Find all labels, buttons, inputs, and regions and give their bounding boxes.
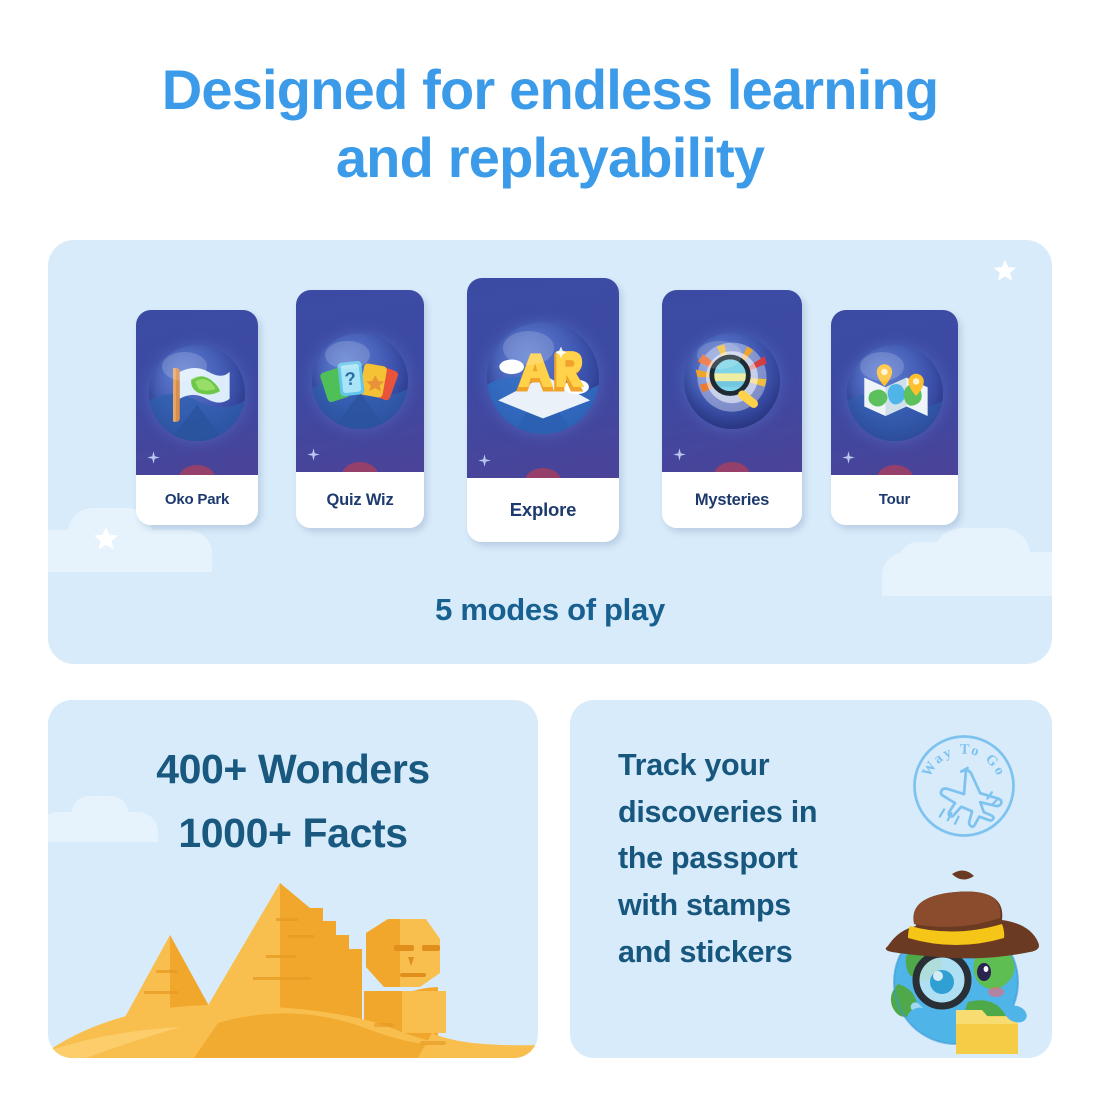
page-title-line-1: Designed for endless learning <box>162 58 939 121</box>
mode-card-label: Tour <box>831 475 958 525</box>
mode-card-mysteries[interactable]: Mysteries <box>662 290 802 528</box>
mode-card-tour[interactable]: Tour <box>831 310 958 525</box>
star-icon <box>841 450 856 465</box>
mode-card-art <box>662 290 802 472</box>
decorative-blob <box>877 465 913 475</box>
mode-card-label: Mysteries <box>662 472 802 528</box>
airplane-stamp-icon: Way To Go <box>910 732 1018 840</box>
pyramids-sphinx-illustration <box>48 873 538 1058</box>
mode-card-label: Explore <box>467 478 619 542</box>
quiz-cards-icon: ? <box>312 333 408 429</box>
passport-line-5: and stickers <box>618 929 898 976</box>
mode-card-label: Quiz Wiz <box>296 472 424 528</box>
map-pins-icon <box>847 345 943 441</box>
page-title: Designed for endless learning and replay… <box>60 56 1040 193</box>
star-icon <box>146 450 161 465</box>
star-icon <box>306 447 321 462</box>
mode-card-explore[interactable]: Explore <box>467 278 619 542</box>
modes-caption: 5 modes of play <box>48 592 1052 628</box>
decorative-blob <box>342 462 378 472</box>
mode-card-art: ? <box>296 290 424 472</box>
passport-card: Track your discoveries in the passport w… <box>570 700 1052 1058</box>
star-icon <box>477 453 492 468</box>
mode-cards-row: Oko Park <box>48 240 1052 560</box>
page-title-line-2: and replayability <box>60 124 1040 192</box>
mode-card-label: Oko Park <box>136 475 258 525</box>
wonders-text: 400+ Wonders 1000+ Facts <box>48 738 538 865</box>
promo-page: Designed for endless learning and replay… <box>0 0 1100 1100</box>
passport-line-4: with stamps <box>618 882 898 929</box>
passport-line-3: the passport <box>618 835 898 882</box>
decorative-blob <box>525 468 561 478</box>
passport-text: Track your discoveries in the passport w… <box>618 742 898 975</box>
flag-island-icon <box>149 345 245 441</box>
mode-card-art <box>467 278 619 478</box>
magnifying-glass-icon <box>684 333 780 429</box>
passport-line-2: discoveries in <box>618 789 898 836</box>
wonders-line-1: 400+ Wonders <box>48 738 538 802</box>
star-icon <box>672 447 687 462</box>
detective-globe-mascot <box>860 864 1052 1058</box>
passport-line-1: Track your <box>618 742 898 789</box>
wonders-card: 400+ Wonders 1000+ Facts <box>48 700 538 1058</box>
wonders-line-2: 1000+ Facts <box>48 802 538 866</box>
ar-phone-icon <box>487 322 599 434</box>
decorative-blob <box>714 462 750 472</box>
mode-card-art <box>831 310 958 475</box>
mode-card-oko-park[interactable]: Oko Park <box>136 310 258 525</box>
mode-card-art <box>136 310 258 475</box>
decorative-blob <box>179 465 215 475</box>
svg-text:?: ? <box>344 367 357 389</box>
mode-card-quiz-wiz[interactable]: ? Quiz Wiz <box>296 290 424 528</box>
modes-panel: Oko Park <box>48 240 1052 664</box>
